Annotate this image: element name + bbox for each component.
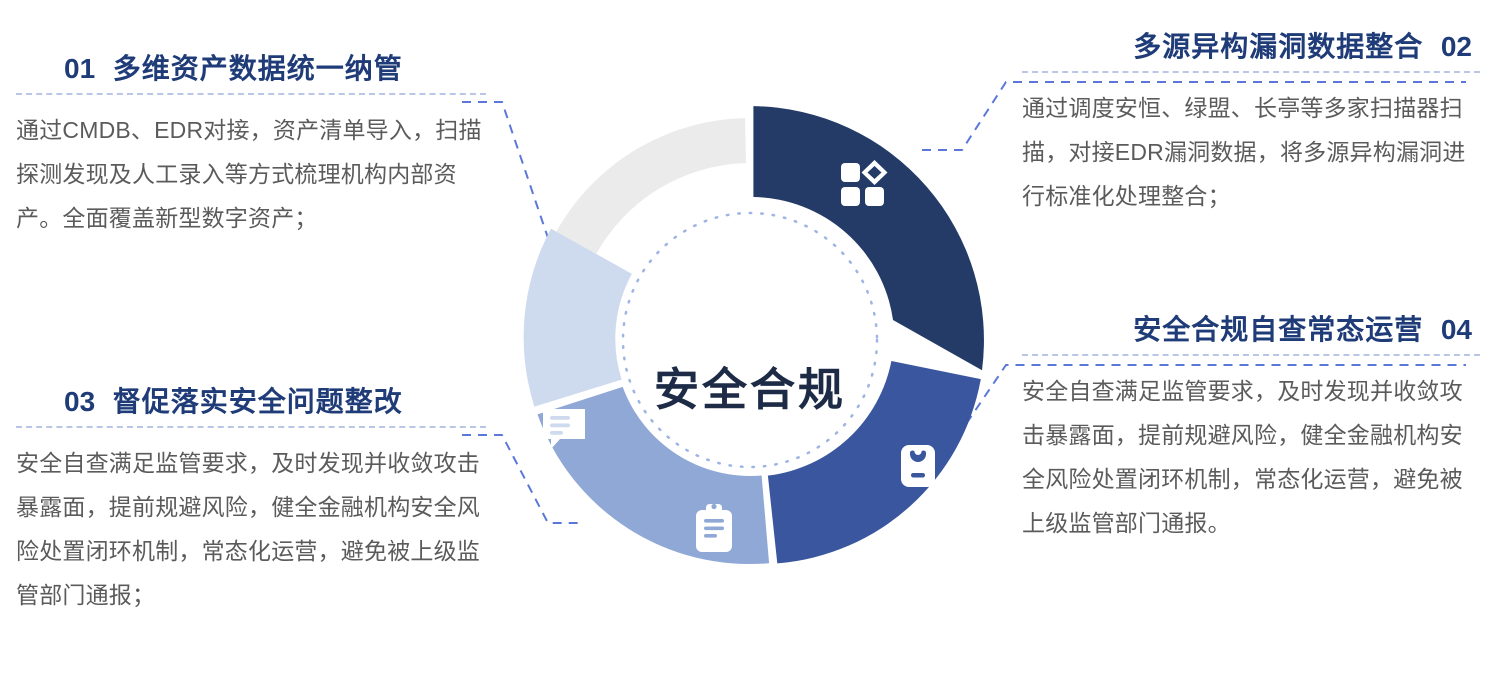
clipboard-icon (696, 504, 732, 552)
info-block-03: 03 督促落实安全问题整改 安全自查满足监管要求，及时发现并收敛攻击暴露面，提前… (16, 385, 486, 617)
donut-svg (489, 57, 1011, 623)
donut-segment-04 (768, 361, 981, 563)
info-block-02: 多源异构漏洞数据整合 02 通过调度安恒、绿盟、长亭等多家扫描器扫描，对接EDR… (1022, 30, 1480, 218)
donut-segment-02 (753, 106, 984, 370)
block-04-body: 安全自查满足监管要求，及时发现并收敛攻击暴露面，提前规避风险，健全金融机构安全风… (1022, 369, 1480, 545)
block-02-number: 02 (1441, 31, 1472, 62)
dotted-ring (623, 213, 877, 467)
block-04-number: 04 (1441, 314, 1472, 345)
block-04-title-text: 安全合规自查常态运营 (1133, 314, 1423, 345)
block-03-divider (16, 426, 486, 428)
donut-segment-gap (556, 118, 746, 254)
block-03-body: 安全自查满足监管要求，及时发现并收敛攻击暴露面，提前规避风险，健全金融机构安全风… (16, 441, 486, 617)
block-03-title-text: 督促落实安全问题整改 (113, 386, 403, 417)
block-04-divider (1022, 354, 1480, 356)
block-03-number: 03 (64, 386, 95, 417)
block-01-divider (16, 93, 486, 95)
info-block-04: 安全合规自查常态运营 04 安全自查满足监管要求，及时发现并收敛攻击暴露面，提前… (1022, 313, 1480, 545)
badge-card-icon (901, 445, 935, 487)
block-04-title: 安全合规自查常态运营 04 (1022, 313, 1480, 347)
infographic-canvas: 01 多维资产数据统一纳管 通过CMDB、EDR对接，资产清单导入，扫描探测发现… (0, 0, 1496, 686)
block-03-title: 03 督促落实安全问题整改 (16, 385, 486, 419)
block-01-number: 01 (64, 53, 95, 84)
block-01-title-text: 多维资产数据统一纳管 (113, 53, 403, 84)
donut-chart: 安全合规 (489, 57, 1011, 623)
donut-segment-01 (524, 229, 632, 407)
info-block-01: 01 多维资产数据统一纳管 通过CMDB、EDR对接，资产清单导入，扫描探测发现… (16, 52, 486, 240)
block-02-title-text: 多源异构漏洞数据整合 (1133, 31, 1423, 62)
block-02-title: 多源异构漏洞数据整合 02 (1022, 30, 1480, 64)
block-01-body: 通过CMDB、EDR对接，资产清单导入，扫描探测发现及人工录入等方式梳理机构内部… (16, 108, 486, 240)
block-02-divider (1022, 71, 1480, 73)
block-02-body: 通过调度安恒、绿盟、长亭等多家扫描器扫描，对接EDR漏洞数据，将多源异构漏洞进行… (1022, 86, 1480, 218)
block-01-title: 01 多维资产数据统一纳管 (16, 52, 486, 86)
